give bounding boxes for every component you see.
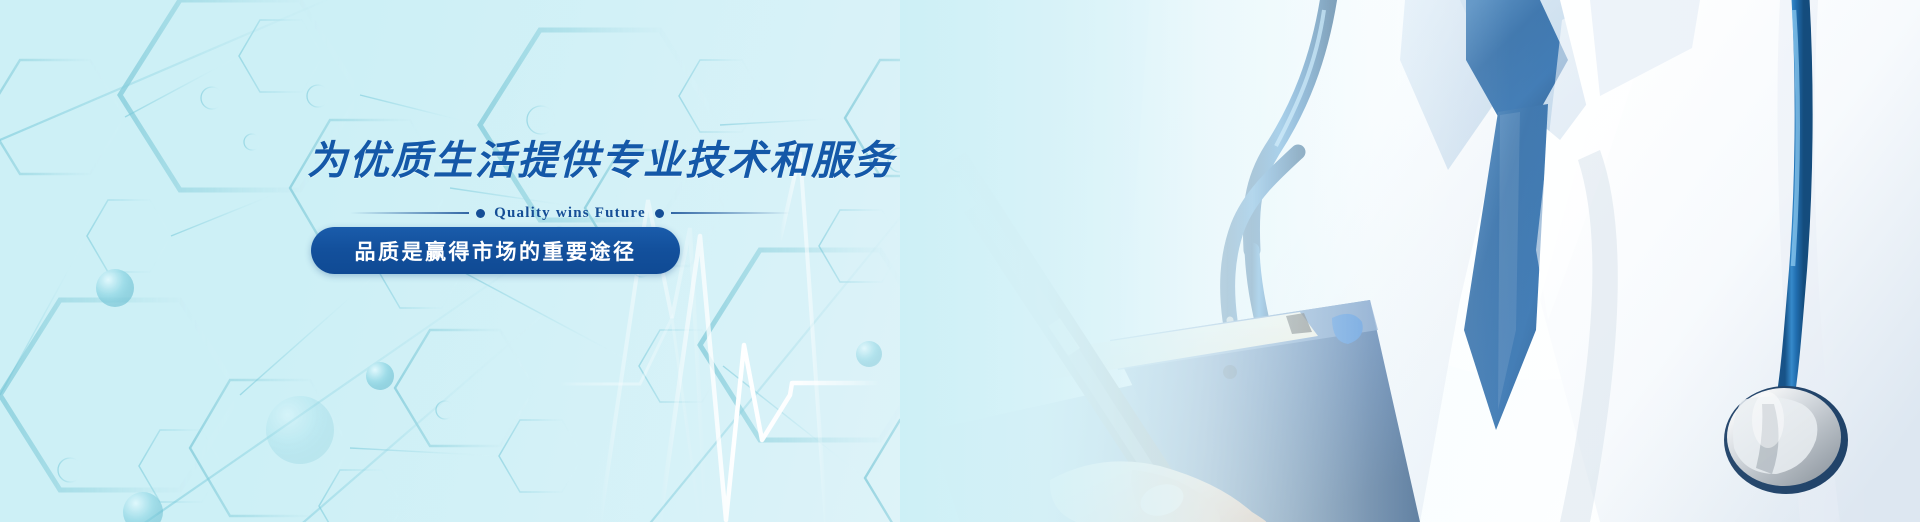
tagline-row: Quality wins Future — [350, 200, 790, 226]
doctor-photo — [900, 0, 1920, 522]
cta-button[interactable]: 品质是赢得市场的重要途径 — [311, 227, 680, 274]
tagline-rule-left — [350, 212, 469, 214]
tagline-rule-right — [671, 212, 790, 214]
tagline-english: Quality wins Future — [492, 205, 648, 222]
cta-button-label: 品质是赢得市场的重要途径 — [355, 236, 637, 266]
tagline-dot-left — [476, 209, 485, 218]
banner-text-block: 为优质生活提供专业技术和服务 Quality wins Future 品质是赢得… — [0, 0, 960, 522]
doctor-illustration — [900, 0, 1920, 522]
medical-hero-banner: 为优质生活提供专业技术和服务 Quality wins Future 品质是赢得… — [0, 0, 1920, 522]
tagline-dot-right — [655, 209, 664, 218]
page-title: 为优质生活提供专业技术和服务 — [307, 128, 895, 186]
